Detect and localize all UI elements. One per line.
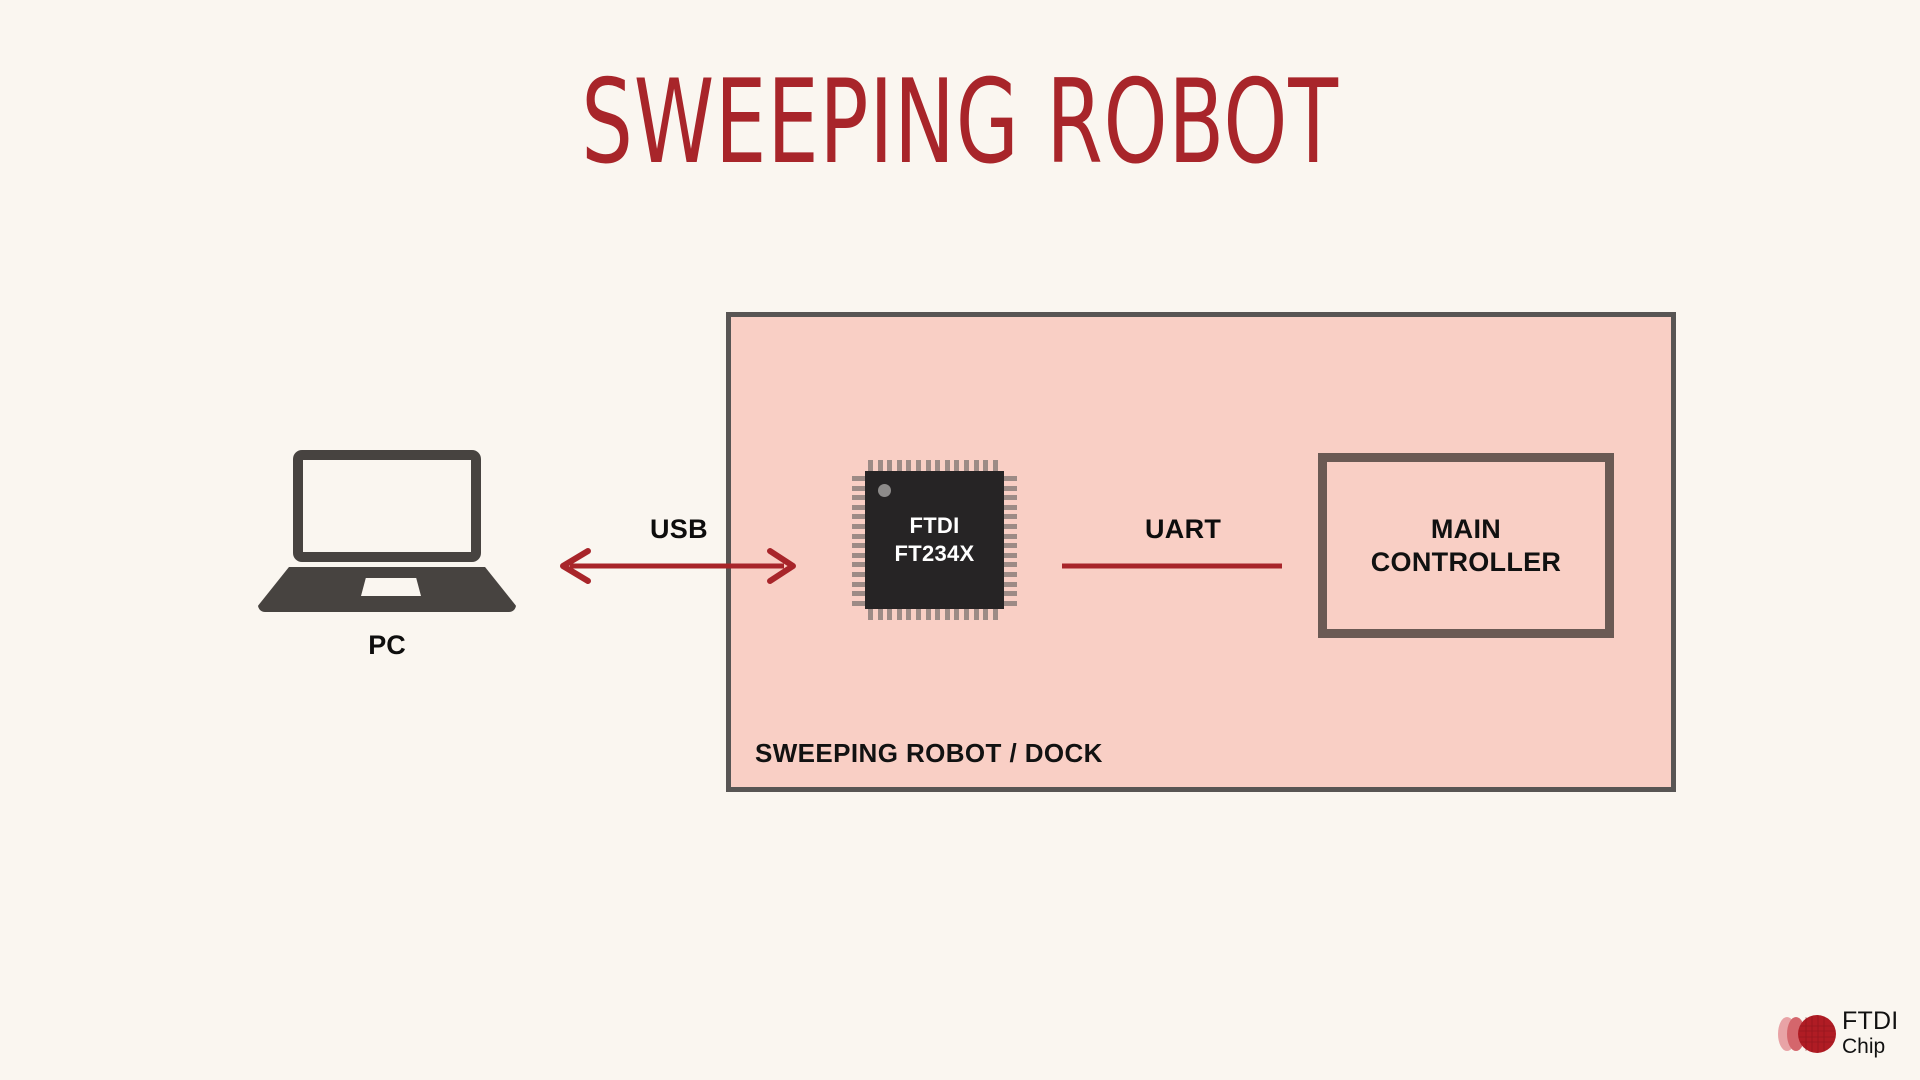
ftdi-logo-line1: FTDI [1842,1009,1898,1034]
diagram-canvas: SWEEPING ROBOT SWEEPING ROBOT / DOCK PC … [0,0,1920,1080]
main-controller-node: MAINCONTROLLER [1318,453,1614,638]
laptop-touchpad-icon [361,578,421,596]
pc-label: PC [258,630,516,661]
ftdi-logo-mark-icon [1776,1008,1842,1060]
chip-pin1-dot-icon [878,484,891,497]
main-controller-label: MAINCONTROLLER [1371,513,1561,579]
ftdi-logo-line2: Chip [1842,1036,1898,1057]
ftdi-logo-text: FTDI Chip [1842,1009,1898,1057]
ftdi-chip-node: FTDI FT234X [852,460,1017,620]
laptop-screen-icon [293,450,481,562]
uart-label: UART [1145,514,1221,545]
page-title: SWEEPING ROBOT [211,62,1709,184]
chip-brand-label: FTDI [909,512,959,540]
enclosure-label: SWEEPING ROBOT / DOCK [755,738,1103,769]
ftdi-chip-logo: FTDI Chip [1776,1008,1900,1060]
main-controller-line2: CONTROLLER [1371,547,1561,577]
chip-part-label: FT234X [894,540,974,568]
usb-label: USB [650,514,708,545]
main-controller-line1: MAIN [1431,514,1501,544]
pc-node: PC [258,450,518,630]
